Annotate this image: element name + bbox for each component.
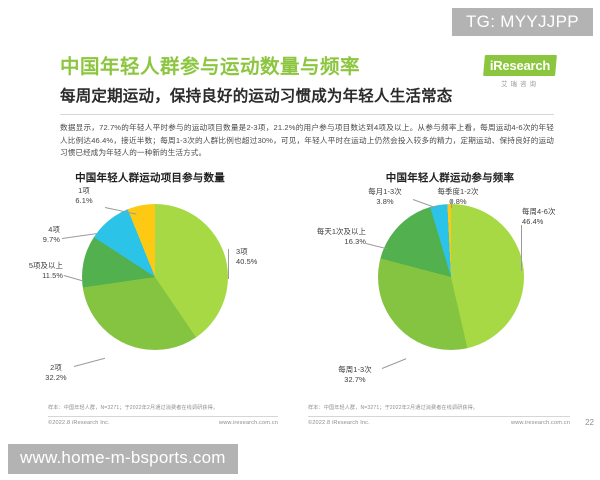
pie-right-label-2: 每天1次及以上 16.3% xyxy=(300,227,366,248)
pie-left-label-0: 3项 40.5% xyxy=(236,247,257,268)
footer-left-copyright: ©2022.8 iResearch Inc. xyxy=(48,420,110,426)
logo-banner-shape: iResearch xyxy=(483,55,557,76)
pie-right-label-1: 每周1-3次 32.7% xyxy=(326,365,384,386)
chart-right-title: 中国年轻人群运动参与频率 xyxy=(300,170,600,185)
pie-right-leader-0 xyxy=(521,225,522,271)
footer-right: 样本：中国年轻人群，N=3271；于2022年2月通过消费者在线调研获得。 ©2… xyxy=(300,404,600,426)
pie-left-leader-1 xyxy=(74,358,105,367)
footer-right-bottom: ©2022.8 iResearch Inc. www.iresearch.com… xyxy=(308,420,570,426)
pie-left-leader-2 xyxy=(64,275,84,281)
footer-left: 样本：中国年轻人群，N=3271；于2022年2月通过消费者在线调研获得。 ©2… xyxy=(0,404,300,426)
pie-right xyxy=(378,204,524,350)
pie-left-leader-0 xyxy=(228,249,229,279)
slide-page: TG: MYYJJPP www.home-m-bsports.com 中国年轻人… xyxy=(0,0,600,480)
site-watermark: www.home-m-bsports.com xyxy=(8,444,238,474)
footer-left-divider xyxy=(48,416,278,417)
pie-right-label-4: 每季度1-2次 0.8% xyxy=(426,187,490,208)
chart-right-plot: 每周4-6次 46.4% 每周1-3次 32.7% 每天1次及以上 16.3% xyxy=(300,185,600,399)
slide-content: 中国年轻人群参与运动数量与频率 iResearch 艾瑞咨询 每周定期运动，保持… xyxy=(0,52,600,444)
header-divider xyxy=(60,114,554,115)
footer-right-copyright: ©2022.8 iResearch Inc. xyxy=(308,420,370,426)
footer-left-url[interactable]: www.iresearch.com.cn xyxy=(219,420,278,426)
body-paragraph: 数据显示，72.7%的年轻人平时参与的运动项目数量是2-3项，21.2%的用户参… xyxy=(60,122,554,160)
logo-sub-text: 艾瑞咨询 xyxy=(484,78,556,88)
footer-right-divider xyxy=(308,416,570,417)
footer-right-url[interactable]: www.iresearch.com.cn xyxy=(511,420,570,426)
footer-row: 样本：中国年轻人群，N=3271；于2022年2月通过消费者在线调研获得。 ©2… xyxy=(0,404,600,426)
iresearch-logo: iResearch 艾瑞咨询 xyxy=(484,55,556,89)
pie-left xyxy=(82,204,228,350)
pie-left-label-3: 4项 9.7% xyxy=(12,225,60,246)
pie-right-leader-4 xyxy=(451,200,452,208)
page-number: 22 xyxy=(585,418,594,427)
pie-left-label-4: 1项 6.1% xyxy=(62,186,106,207)
chart-left-title: 中国年轻人群运动项目参与数量 xyxy=(0,170,300,185)
footer-left-bottom: ©2022.8 iResearch Inc. www.iresearch.com… xyxy=(48,420,278,426)
pie-right-label-3: 每月1-3次 3.8% xyxy=(356,187,414,208)
chart-left: 中国年轻人群运动项目参与数量 3项 40.5% 2项 32.2% xyxy=(0,168,300,410)
chart-right: 中国年轻人群运动参与频率 每周4-6次 46.4% 每周1-3次 32.7% xyxy=(300,168,600,410)
pie-right-label-0: 每周4-6次 46.4% xyxy=(522,207,555,228)
logo-brand-text: iResearch xyxy=(484,55,556,76)
footer-right-sample-note: 样本：中国年轻人群，N=3271；于2022年2月通过消费者在线调研获得。 xyxy=(308,404,570,413)
pie-left-label-1: 2项 32.2% xyxy=(36,363,76,384)
telegram-watermark: TG: MYYJJPP xyxy=(452,8,593,36)
charts-area: 中国年轻人群运动项目参与数量 3项 40.5% 2项 32.2% xyxy=(0,168,600,410)
title-row: 中国年轻人群参与运动数量与频率 iResearch 艾瑞咨询 xyxy=(0,52,600,86)
pie-right-leader-1 xyxy=(382,358,406,369)
page-title: 中国年轻人群参与运动数量与频率 xyxy=(60,52,554,82)
footer-left-sample-note: 样本：中国年轻人群，N=3271；于2022年2月通过消费者在线调研获得。 xyxy=(48,404,278,413)
chart-left-plot: 3项 40.5% 2项 32.2% 5项及以上 11.5% xyxy=(0,185,300,399)
pie-left-label-2: 5项及以上 11.5% xyxy=(0,261,63,282)
page-subtitle: 每周定期运动，保持良好的运动习惯成为年轻人生活常态 xyxy=(0,86,600,108)
